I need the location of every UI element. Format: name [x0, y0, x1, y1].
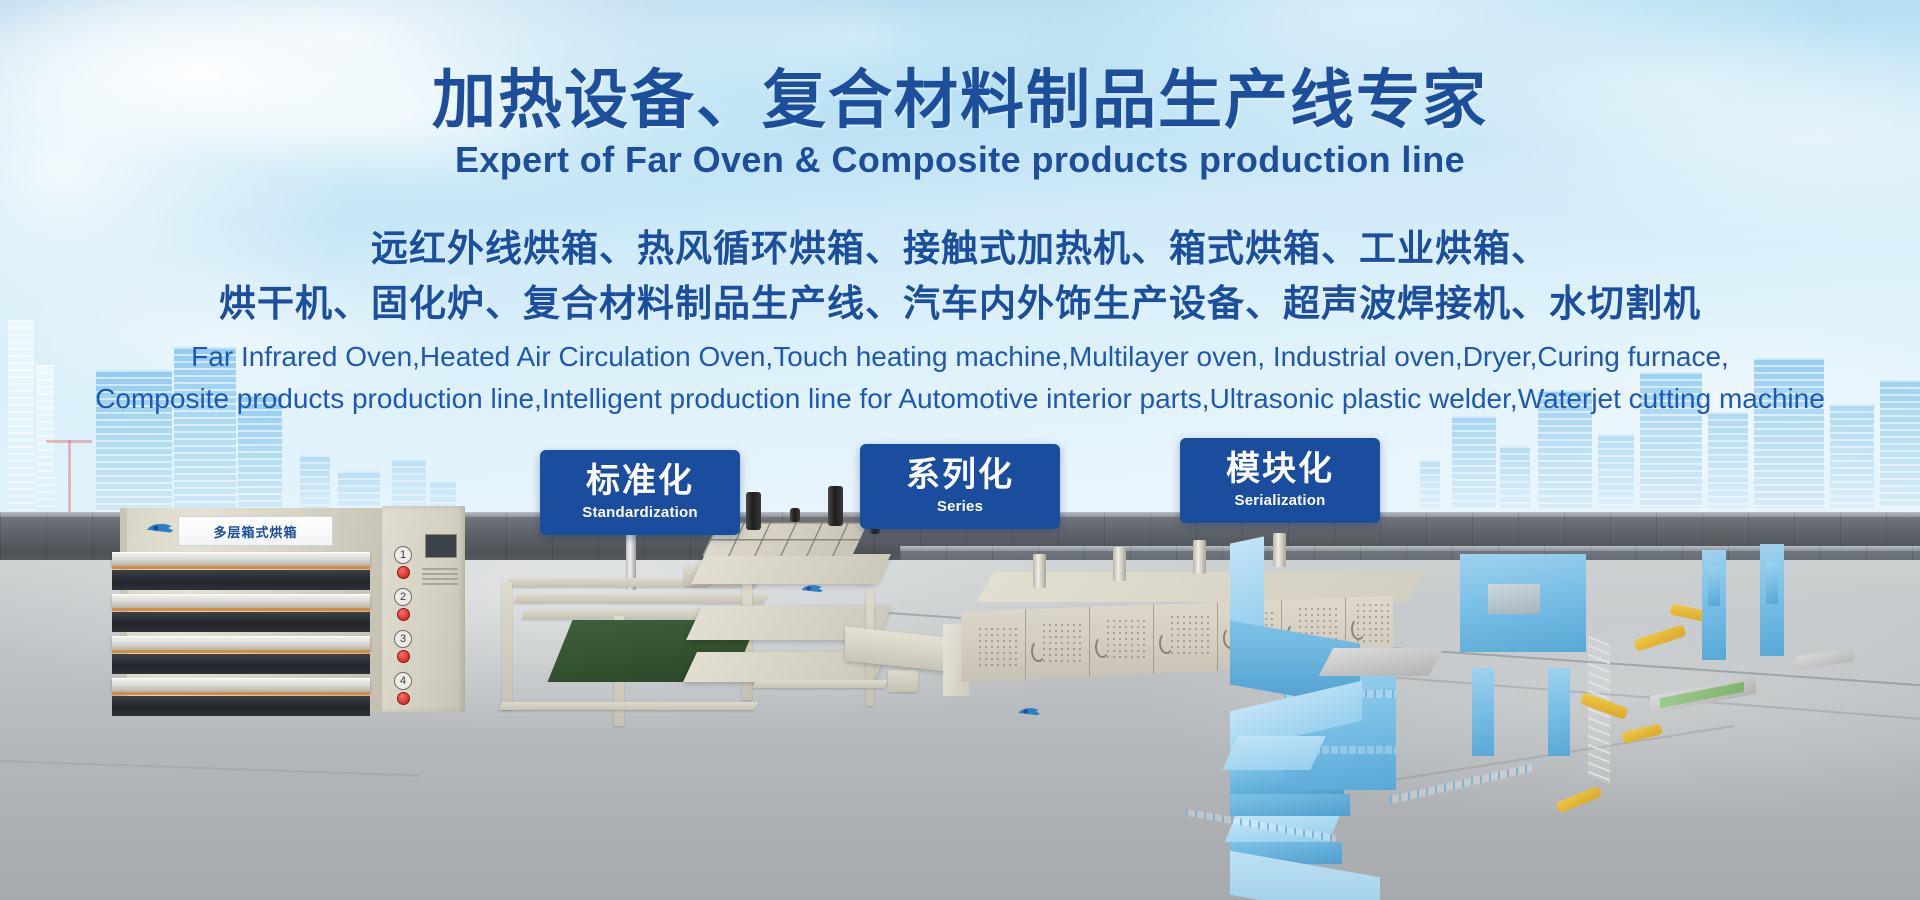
panel-seam — [1217, 596, 1218, 682]
pump-unit — [888, 670, 918, 692]
emergency-stop-button[interactable] — [397, 692, 410, 705]
emergency-stop-button[interactable] — [397, 608, 410, 621]
page-title: 加热设备、复合材料制品生产线专家 — [0, 68, 1920, 132]
frame-rail — [514, 594, 768, 603]
oven-tray — [112, 552, 370, 566]
oven-heat-strip — [112, 650, 370, 653]
conveyor-rail — [1390, 764, 1532, 805]
badge-label-cn: 标准化 — [586, 464, 694, 500]
exhaust-stack — [1113, 547, 1126, 581]
robot-arm-segment — [1633, 624, 1686, 651]
product-list-cn-line-1: 远红外线烘箱、热风循环烘箱、接触式加热机、箱式烘箱、工业烘箱、 — [0, 228, 1920, 271]
oven-tray — [112, 636, 370, 650]
hero-banner: 多层箱式烘箱 1 2 3 4 — [0, 0, 1920, 900]
product-list-en-line-1: Far Infrared Oven,Heated Air Circulation… — [0, 340, 1920, 374]
perforation-pattern — [977, 626, 1021, 666]
robot-arm-segment — [1556, 786, 1603, 813]
panel-seam — [1153, 596, 1154, 682]
inspection-window — [1031, 640, 1046, 662]
gantry-guide — [1766, 562, 1778, 604]
machine-robot-cell — [1230, 540, 1920, 870]
panel-seam — [1089, 596, 1090, 682]
press-column — [1548, 668, 1570, 756]
feed-roller — [1319, 648, 1444, 676]
tier-number-3: 3 — [394, 630, 412, 648]
frame-rail — [498, 702, 758, 710]
oven-heat-strip — [112, 608, 370, 611]
oven-control-cabinet[interactable]: 1 2 3 4 — [382, 506, 465, 712]
emergency-stop-button[interactable] — [397, 650, 410, 663]
perforation-pattern — [1041, 622, 1085, 662]
product-list-cn-line-2: 烘干机、固化炉、复合材料制品生产线、汽车内外饰生产设备、超声波焊接机、水切割机 — [0, 283, 1920, 326]
press-base — [1230, 794, 1350, 816]
badge-label-cn: 系列化 — [906, 458, 1014, 494]
badge-standardization[interactable]: 标准化 Standardization — [540, 450, 740, 535]
crane-icon — [46, 440, 92, 443]
inspection-window — [1095, 636, 1110, 658]
gantry-guide — [1708, 566, 1720, 606]
badge-series[interactable]: 系列化 Series — [860, 444, 1060, 529]
brand-logo-icon — [1015, 705, 1045, 718]
oven-chamber — [112, 696, 370, 716]
badge-label-en: Serialization — [1235, 492, 1326, 509]
oven-heat-strip — [112, 692, 370, 695]
product-list-en-line-2: Composite products production line,Intel… — [0, 382, 1920, 416]
press-base — [752, 680, 888, 688]
oven-heat-strip — [112, 566, 370, 569]
control-screen[interactable] — [425, 534, 457, 558]
emergency-stop-button[interactable] — [397, 566, 410, 579]
exhaust-stack — [1033, 554, 1046, 588]
badge-label-en: Series — [937, 498, 983, 515]
exhaust-stack — [1193, 540, 1206, 574]
oven-tray — [112, 594, 370, 608]
robot-arm-segment — [1621, 723, 1662, 743]
feature-badges: 标准化 Standardization 系列化 Series 模块化 Seria… — [0, 450, 1920, 535]
badge-label-cn: 模块化 — [1226, 452, 1334, 488]
oven-chamber — [112, 612, 370, 632]
cabinet-vents-icon — [422, 568, 458, 588]
panel-seam — [1025, 596, 1026, 682]
oven-chamber — [112, 570, 370, 590]
press-upper-platen — [691, 554, 891, 584]
perforation-pattern — [1105, 618, 1149, 658]
oven-tray — [112, 678, 370, 692]
press-column — [1472, 668, 1494, 756]
perforation-pattern — [1169, 614, 1213, 654]
page-subtitle: Expert of Far Oven & Composite products … — [0, 140, 1920, 180]
badge-label-en: Standardization — [582, 504, 698, 521]
press-nameplate — [1488, 584, 1540, 614]
press-crown — [1222, 736, 1325, 770]
tier-number-1: 1 — [394, 546, 412, 564]
inspection-window — [1159, 632, 1174, 654]
tier-number-4: 4 — [394, 672, 412, 690]
oven-chamber — [112, 654, 370, 674]
badge-serialization[interactable]: 模块化 Serialization — [1180, 438, 1380, 523]
exit-conveyor — [1796, 647, 1854, 670]
machine-multilayer-oven: 多层箱式烘箱 1 2 3 4 — [120, 508, 465, 720]
frame-leg — [502, 582, 512, 710]
brand-logo-icon — [798, 582, 828, 595]
tier-number-2: 2 — [394, 588, 412, 606]
